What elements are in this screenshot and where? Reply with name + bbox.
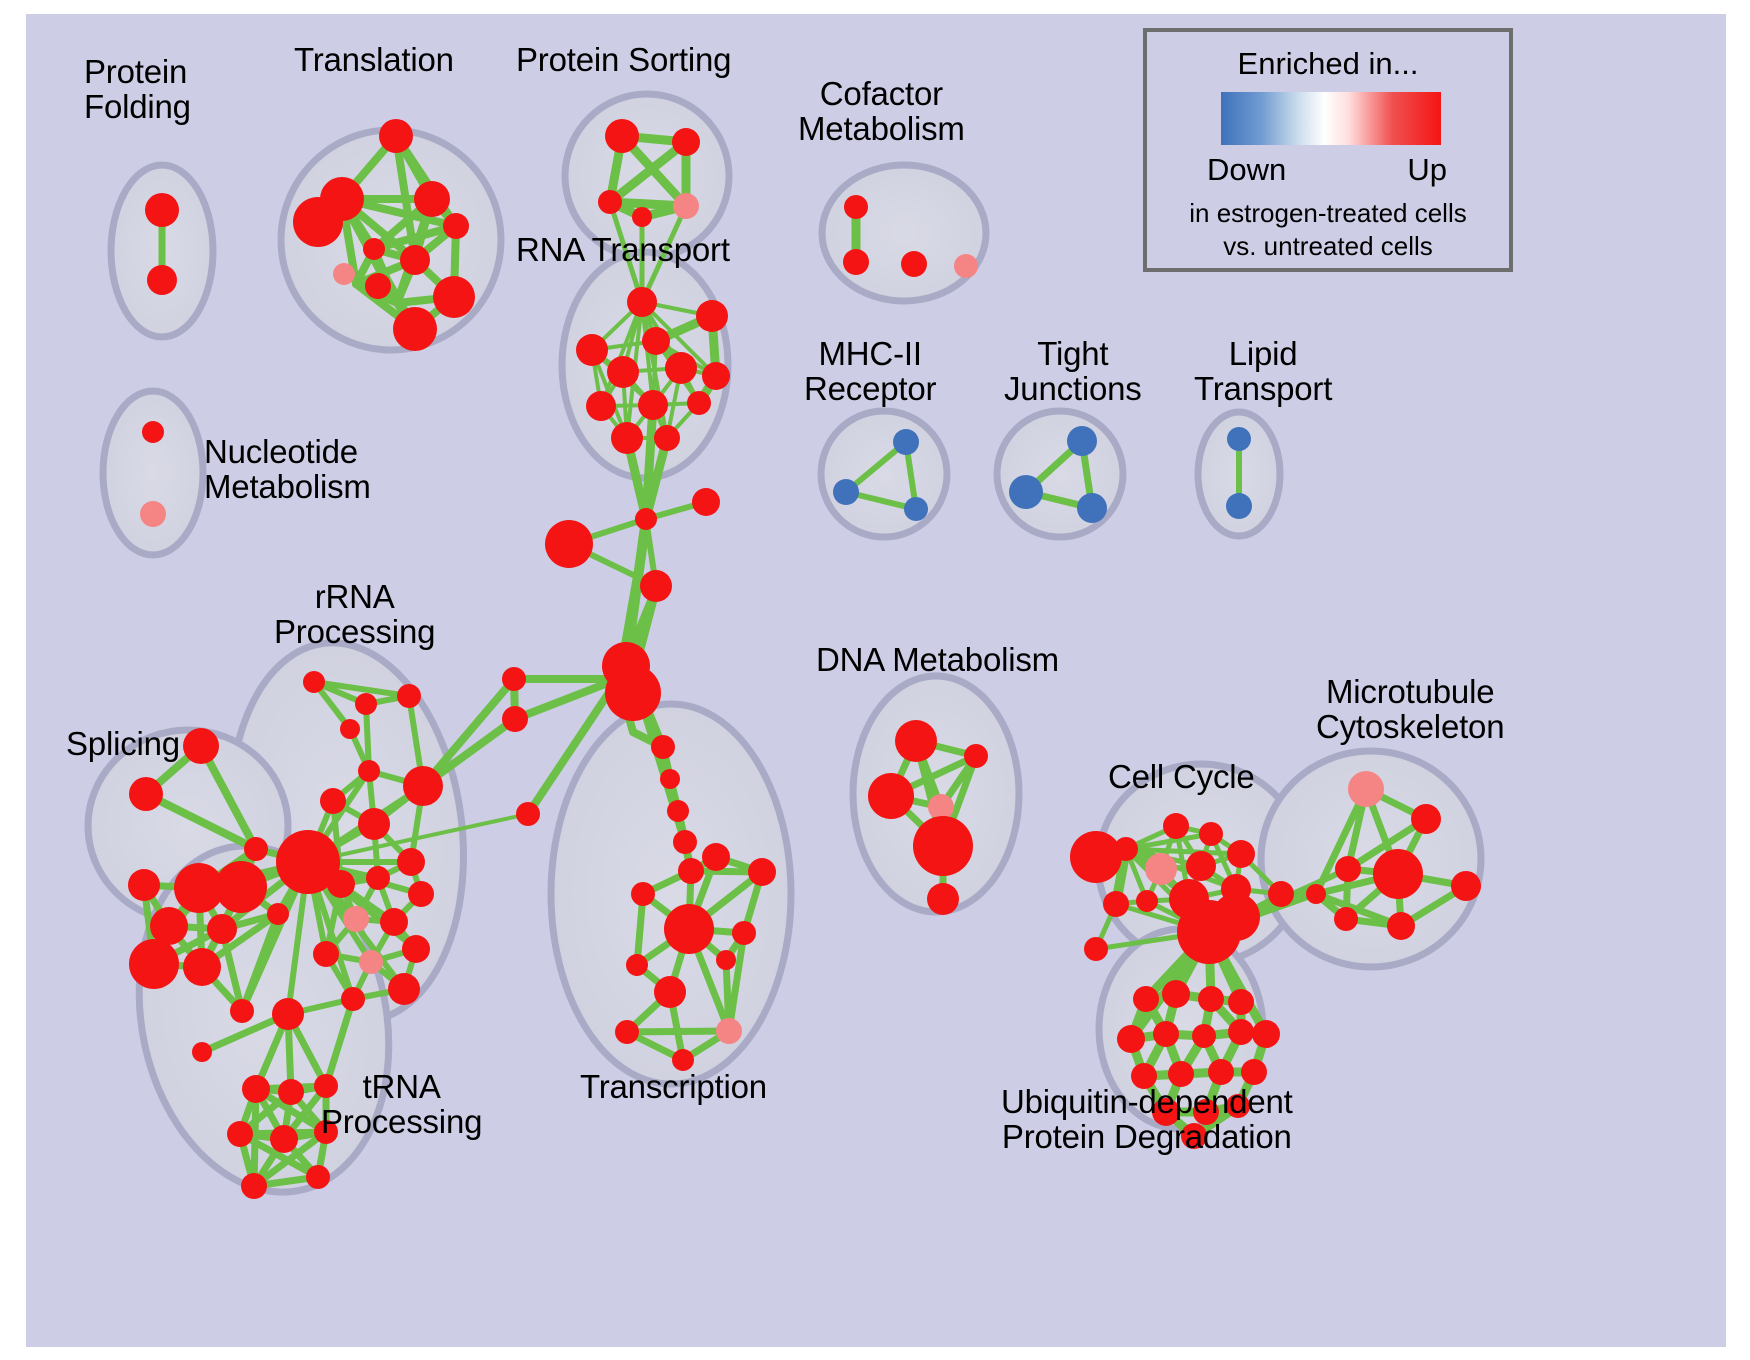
cluster-label-translation: Translation xyxy=(294,42,454,77)
cluster-label-microtubule-cytoskeleton: Microtubule Cytoskeleton xyxy=(1316,674,1504,745)
legend-high-label: Up xyxy=(1407,152,1447,188)
legend-title: Enriched in... xyxy=(1147,46,1509,82)
cluster-label-dna-metabolism: DNA Metabolism xyxy=(816,642,1059,677)
cluster-label-cell-cycle: Cell Cycle xyxy=(1108,759,1255,794)
cluster-label-ubiquitin: Ubiquitin-dependent Protein Degradation xyxy=(1001,1084,1293,1155)
legend-subtitle-line-1: in estrogen-treated cells xyxy=(1147,198,1509,229)
legend-box: Enriched in... Down Up in estrogen-treat… xyxy=(1143,28,1513,272)
cluster-label-splicing: Splicing xyxy=(66,726,180,761)
legend-color-gradient-bar xyxy=(1221,92,1441,145)
cluster-label-mhc-ii-receptor: MHC-II Receptor xyxy=(804,336,936,407)
cluster-label-transcription: Transcription xyxy=(580,1069,767,1104)
network-canvas: Protein Folding Translation Protein Sort… xyxy=(26,14,1726,1347)
hull-cofactor-metabolism xyxy=(822,165,986,301)
hull-nucleotide-metabolism xyxy=(103,391,203,555)
cluster-label-protein-sorting: Protein Sorting xyxy=(516,42,731,77)
cluster-label-cofactor-metabolism: Cofactor Metabolism xyxy=(798,76,965,147)
hull-mhc-ii xyxy=(821,411,947,537)
legend-low-label: Down xyxy=(1207,152,1286,188)
cluster-label-rrna-processing: rRNA Processing xyxy=(274,579,435,650)
cluster-label-lipid-transport: Lipid Transport xyxy=(1194,336,1332,407)
legend-subtitle-line-2: vs. untreated cells xyxy=(1147,231,1509,262)
cluster-label-rna-transport: RNA Transport xyxy=(516,232,730,267)
hull-tight-junctions xyxy=(997,411,1123,537)
cluster-label-tight-junctions: Tight Junctions xyxy=(1004,336,1142,407)
figure-root: Protein Folding Translation Protein Sort… xyxy=(0,0,1750,1360)
cluster-label-protein-folding: Protein Folding xyxy=(84,54,191,125)
cluster-label-nucleotide-metabolism: Nucleotide Metabolism xyxy=(204,434,371,505)
cluster-label-trna-processing: tRNA Processing xyxy=(321,1069,482,1140)
